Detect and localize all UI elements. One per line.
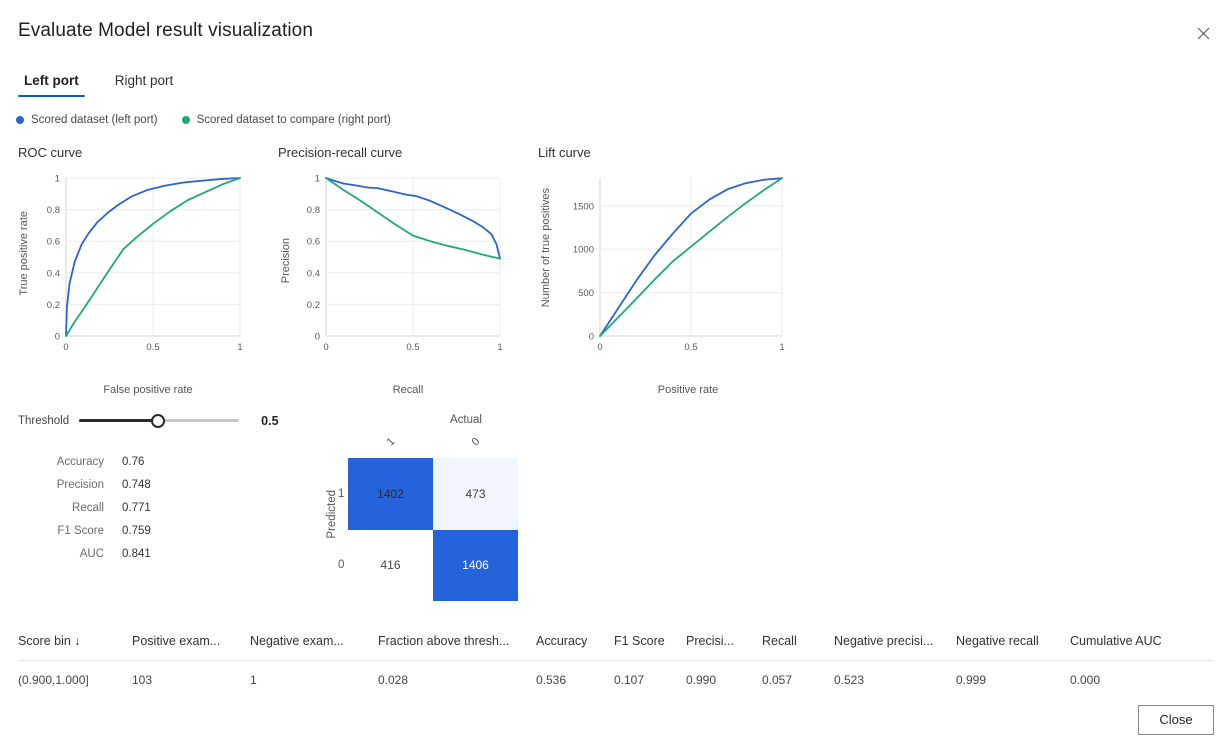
metric-value: 0.748 [122, 479, 151, 491]
table-cell: 0.999 [956, 673, 1070, 687]
table-header-4[interactable]: Accuracy [536, 634, 614, 648]
legend-label: Scored dataset (left port) [31, 114, 158, 126]
legend-item-left-port: Scored dataset (left port) [16, 114, 158, 126]
metric-label: Accuracy [18, 456, 122, 468]
svg-text:0.2: 0.2 [47, 300, 60, 311]
svg-text:0: 0 [55, 332, 60, 343]
table-cell: 0.028 [378, 673, 536, 687]
table-cell: 0.000 [1070, 673, 1200, 687]
confusion-matrix-predicted-label: Predicted [326, 490, 338, 539]
table-body: (0.900,1.000]10310.0280.5360.1070.9900.0… [18, 661, 1214, 699]
table-cell: 1 [250, 673, 378, 687]
metric-value: 0.76 [122, 456, 144, 468]
table-cell: 0.057 [762, 673, 834, 687]
chart-title: ROC curve [18, 145, 268, 160]
table-cell: 0.523 [834, 673, 956, 687]
table-header-9[interactable]: Negative recall [956, 634, 1070, 648]
x-axis-label: Recall [298, 384, 518, 396]
table-header-7[interactable]: Recall [762, 634, 834, 648]
svg-text:0: 0 [315, 332, 320, 343]
table-cell: (0.900,1.000] [18, 673, 132, 687]
metric-value: 0.759 [122, 525, 151, 537]
svg-text:1000: 1000 [573, 245, 594, 256]
confusion-matrix-cell-tp: 1402 [348, 458, 433, 530]
close-button[interactable]: Close [1138, 705, 1214, 735]
metric-value: 0.841 [122, 548, 151, 560]
tab-right-port[interactable]: Right port [109, 70, 180, 97]
metric-label: Recall [18, 502, 122, 514]
table-header-5[interactable]: F1 Score [614, 634, 686, 648]
svg-text:1: 1 [779, 342, 784, 353]
legend-label: Scored dataset to compare (right port) [197, 114, 391, 126]
svg-text:1: 1 [315, 174, 320, 185]
svg-text:0.6: 0.6 [307, 237, 320, 248]
confusion-matrix: Actual 1 0 Predicted 1 0 1402 473 416 14… [330, 410, 590, 610]
confusion-matrix-cell-tn: 1406 [433, 530, 518, 602]
threshold-slider[interactable] [79, 412, 239, 430]
metric-accuracy: Accuracy 0.76 [18, 450, 151, 473]
svg-text:0.4: 0.4 [307, 268, 320, 279]
table-cell: 0.536 [536, 673, 614, 687]
svg-text:0: 0 [323, 342, 328, 353]
score-bin-table: Score bin ↓Positive exam...Negative exam… [18, 622, 1214, 699]
confusion-matrix-cell-fn: 416 [348, 530, 433, 602]
svg-text:0.2: 0.2 [307, 300, 320, 311]
svg-text:0: 0 [589, 332, 594, 343]
table-row[interactable]: (0.900,1.000]10310.0280.5360.1070.9900.0… [18, 661, 1214, 699]
slider-thumb[interactable] [151, 414, 165, 428]
svg-text:1: 1 [497, 342, 502, 353]
legend-dot-icon [16, 116, 24, 124]
table-header-8[interactable]: Negative precisi... [834, 634, 956, 648]
confusion-matrix-row-tick-0: 0 [338, 559, 344, 571]
table-header-10[interactable]: Cumulative AUC [1070, 634, 1200, 648]
legend-item-right-port: Scored dataset to compare (right port) [182, 114, 391, 126]
svg-text:0: 0 [63, 342, 68, 353]
metric-f1-score: F1 Score 0.759 [18, 519, 151, 542]
svg-text:0.6: 0.6 [47, 237, 60, 248]
confusion-matrix-row-tick-1: 1 [338, 488, 344, 500]
page-title: Evaluate Model result visualization [18, 20, 313, 42]
confusion-matrix-col-tick-0: 0 [470, 436, 483, 449]
close-icon[interactable] [1188, 18, 1218, 48]
svg-text:1500: 1500 [573, 201, 594, 212]
svg-text:0.8: 0.8 [47, 205, 60, 216]
svg-text:0.8: 0.8 [307, 205, 320, 216]
svg-text:1: 1 [55, 174, 60, 185]
metrics-list: Accuracy 0.76 Precision 0.748 Recall 0.7… [18, 450, 151, 565]
svg-text:0.5: 0.5 [684, 342, 697, 353]
svg-text:500: 500 [578, 288, 594, 299]
port-tabs: Left port Right port [18, 70, 179, 97]
table-header-row: Score bin ↓Positive exam...Negative exam… [18, 622, 1214, 661]
chart-lift-curve: Lift curve Number of true positives 0500… [538, 145, 808, 386]
svg-text:0.5: 0.5 [146, 342, 159, 353]
table-cell: 0.107 [614, 673, 686, 687]
threshold-value: 0.5 [261, 414, 278, 428]
table-header-3[interactable]: Fraction above thresh... [378, 634, 536, 648]
chart-title: Lift curve [538, 145, 808, 160]
table-header-1[interactable]: Positive exam... [132, 634, 250, 648]
metric-recall: Recall 0.771 [18, 496, 151, 519]
metric-precision: Precision 0.748 [18, 473, 151, 496]
metric-value: 0.771 [122, 502, 151, 514]
svg-text:0: 0 [597, 342, 602, 353]
table-cell: 0.990 [686, 673, 762, 687]
legend-dot-icon [182, 116, 190, 124]
charts-row: ROC curve True positive rate 00.20.40.60… [0, 145, 1230, 390]
chart-legend: Scored dataset (left port) Scored datase… [16, 114, 391, 126]
metric-auc: AUC 0.841 [18, 542, 151, 565]
metric-label: F1 Score [18, 525, 122, 537]
table-header-6[interactable]: Precisi... [686, 634, 762, 648]
threshold-label: Threshold [18, 415, 69, 427]
svg-text:1: 1 [237, 342, 242, 353]
chart-title: Precision-recall curve [278, 145, 528, 160]
threshold-control: Threshold 0.5 [18, 412, 279, 430]
svg-text:0.4: 0.4 [47, 268, 60, 279]
metric-label: Precision [18, 479, 122, 491]
table-cell: 103 [132, 673, 250, 687]
chart-roc-curve: ROC curve True positive rate 00.20.40.60… [18, 145, 268, 386]
confusion-matrix-col-tick-1: 1 [385, 436, 398, 449]
tab-left-port[interactable]: Left port [18, 70, 85, 97]
evaluate-model-dialog: Evaluate Model result visualization Left… [0, 0, 1230, 743]
svg-text:0.5: 0.5 [406, 342, 419, 353]
table-header-0[interactable]: Score bin ↓ [18, 634, 132, 648]
confusion-matrix-grid: 1402 473 416 1406 [348, 458, 518, 601]
x-axis-label: False positive rate [38, 384, 258, 396]
confusion-matrix-cell-fp: 473 [433, 458, 518, 530]
slider-fill [79, 419, 159, 422]
x-axis-label: Positive rate [578, 384, 798, 396]
table-header-2[interactable]: Negative exam... [250, 634, 378, 648]
metric-label: AUC [18, 548, 122, 560]
chart-precision-recall-curve: Precision-recall curve Precision 00.20.4… [278, 145, 528, 386]
confusion-matrix-actual-label: Actual [426, 414, 506, 426]
